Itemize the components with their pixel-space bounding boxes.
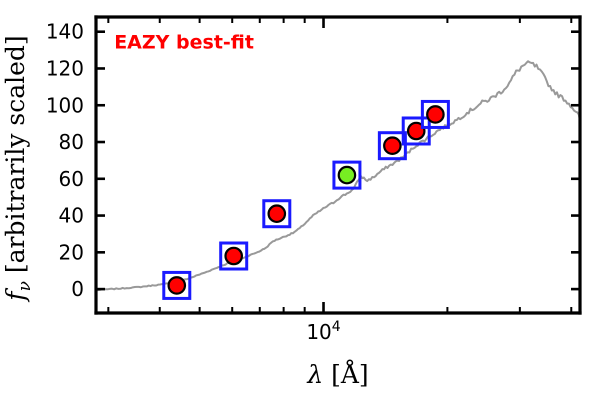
x-tick-label-10000: 104: [306, 319, 340, 344]
x-axis-title-text: λ [Å]: [306, 359, 368, 389]
photometry-point-6: [427, 106, 443, 122]
photometry-point-2: [269, 206, 285, 222]
axis-tick-labels-layer: 020406080100120140104: [46, 20, 341, 344]
photometry-point-4: [384, 138, 400, 154]
y-tick-label-60: 60: [59, 167, 84, 191]
axes-layer: [96, 17, 580, 313]
photometry-point-1: [226, 248, 242, 264]
photometry-markers-layer: [164, 101, 449, 298]
photometry-point-3: [339, 167, 355, 183]
y-tick-label-40: 40: [59, 204, 84, 228]
eazy-best-fit-annotation: EAZY best-fit: [114, 31, 254, 53]
axis-ticks-layer: [96, 17, 580, 313]
y-tick-label-100: 100: [46, 93, 84, 117]
y-axis-title-text: fν [arbitrarily scaled]: [1, 35, 35, 302]
y-tick-label-80: 80: [59, 130, 84, 154]
y-tick-label-0: 0: [71, 277, 84, 301]
y-tick-label-140: 140: [46, 20, 84, 44]
chart-figure: 020406080100120140104 EAZY best-fit λ [Å…: [0, 0, 600, 400]
y-tick-label-20: 20: [59, 240, 84, 264]
x-axis-title: λ [Å]: [306, 359, 368, 389]
y-axis-title: fν [arbitrarily scaled]: [1, 35, 35, 302]
sed-plot: 020406080100120140104 EAZY best-fit λ [Å…: [0, 0, 600, 400]
photometry-point-0: [169, 277, 185, 293]
y-tick-label-120: 120: [46, 56, 84, 80]
